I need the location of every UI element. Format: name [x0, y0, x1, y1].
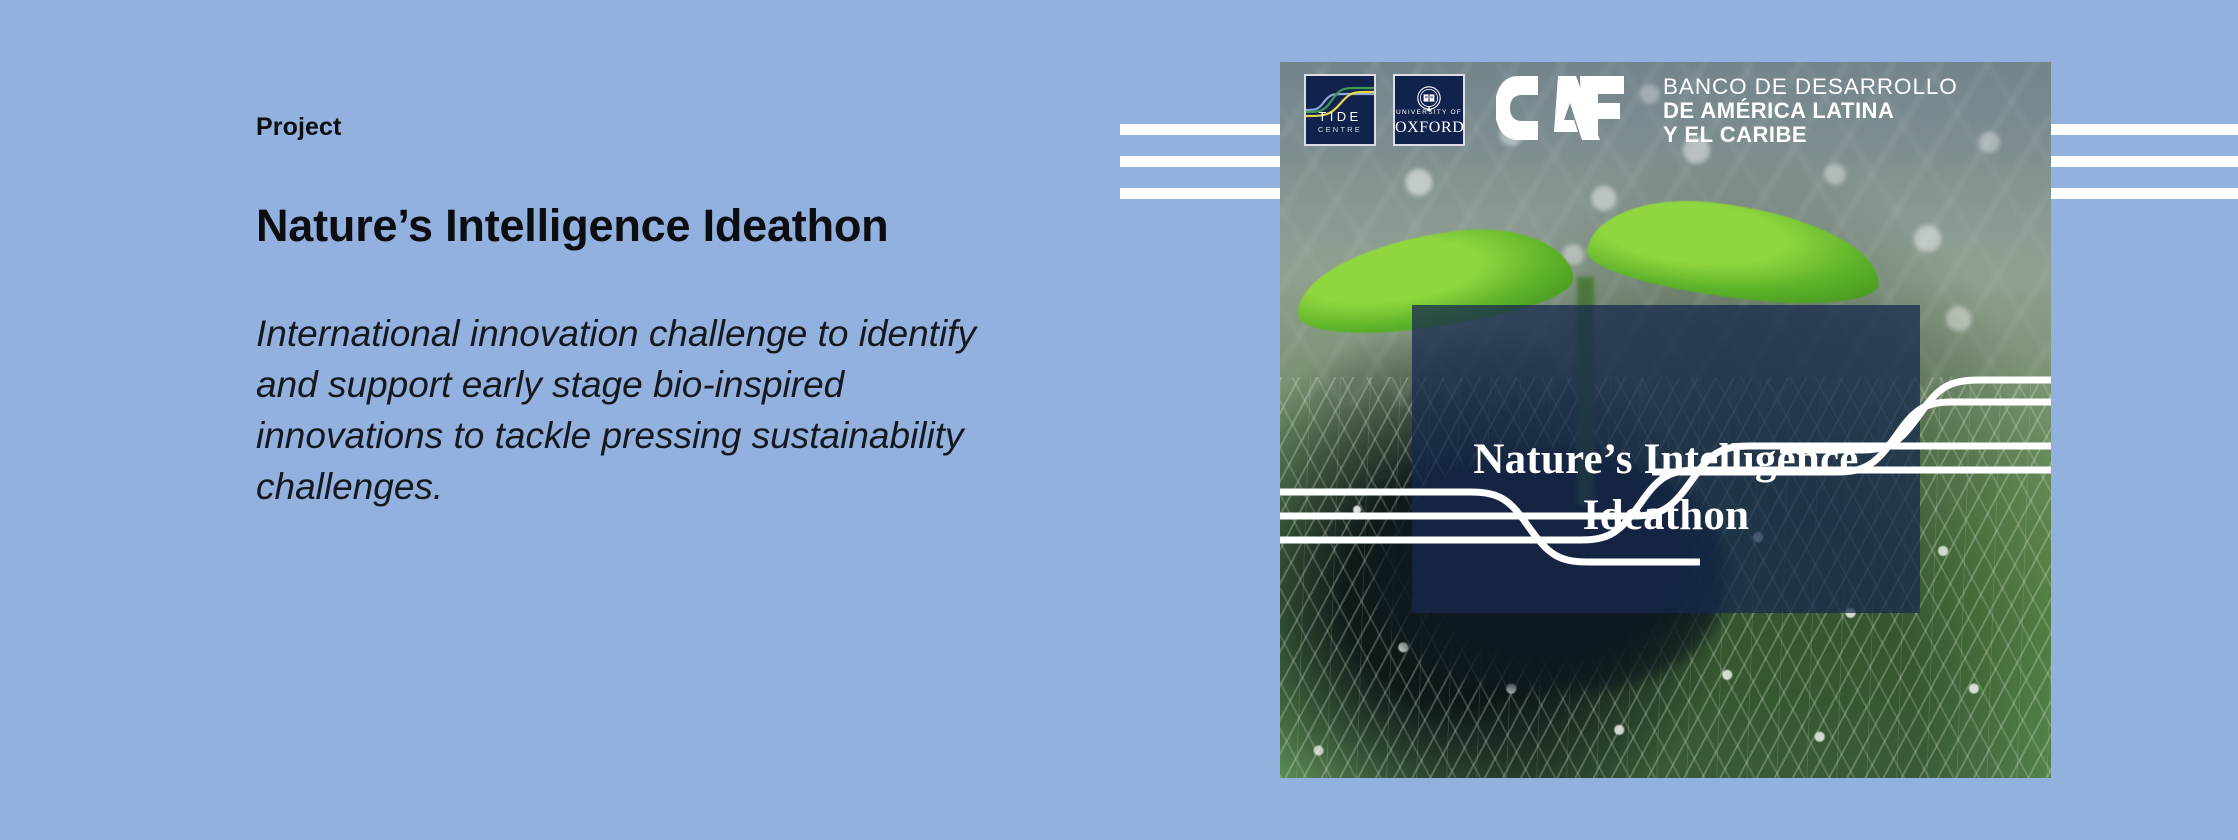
partner-logo-row: TIDE CENTRE: [1304, 70, 1958, 149]
image-title-overlay-panel: Nature’s Intelligence Ideathon: [1412, 305, 1920, 613]
decorative-bars-right: [2035, 124, 2238, 199]
decorative-bar: [2035, 124, 2238, 135]
oxford-logo-line2: OXFORD: [1395, 120, 1463, 136]
caf-line-america: DE AMÉRICA LATINA: [1663, 99, 1958, 123]
project-eyebrow-label: Project: [256, 112, 1016, 142]
caf-line-banco: BANCO DE DESARROLLO: [1663, 75, 1958, 99]
university-of-oxford-logo: UNIVERSITY OF OXFORD: [1393, 74, 1465, 146]
oxford-logo-text: UNIVERSITY OF OXFORD: [1395, 110, 1463, 136]
oxford-logo-line1: UNIVERSITY OF: [1395, 110, 1463, 117]
tide-logo-subtitle: CENTRE: [1306, 126, 1374, 134]
caf-line-caribe: Y EL CARIBE: [1663, 123, 1958, 147]
tide-logo-name: TIDE: [1306, 110, 1374, 123]
page-bottom-strip: [0, 786, 2238, 840]
page-title: Nature’s Intelligence Ideathon: [256, 200, 1016, 252]
project-card-page: Project Nature’s Intelligence Ideathon I…: [0, 0, 2238, 840]
project-text-column: Project Nature’s Intelligence Ideathon I…: [256, 112, 1016, 512]
project-image-card: TIDE CENTRE: [1280, 62, 2051, 778]
tide-centre-logo: TIDE CENTRE: [1304, 74, 1376, 146]
decorative-bar: [2035, 188, 2238, 199]
image-title-overlay-text: Nature’s Intelligence Ideathon: [1412, 432, 1920, 544]
caf-wordmark-icon: [1496, 72, 1624, 149]
decorative-bar: [2035, 156, 2238, 167]
caf-logo-shape: [1496, 72, 1624, 144]
project-description: International innovation challenge to id…: [256, 308, 976, 512]
tide-logo-text: TIDE CENTRE: [1306, 110, 1374, 134]
caf-text-block: BANCO DE DESARROLLO DE AMÉRICA LATINA Y …: [1663, 73, 1958, 147]
